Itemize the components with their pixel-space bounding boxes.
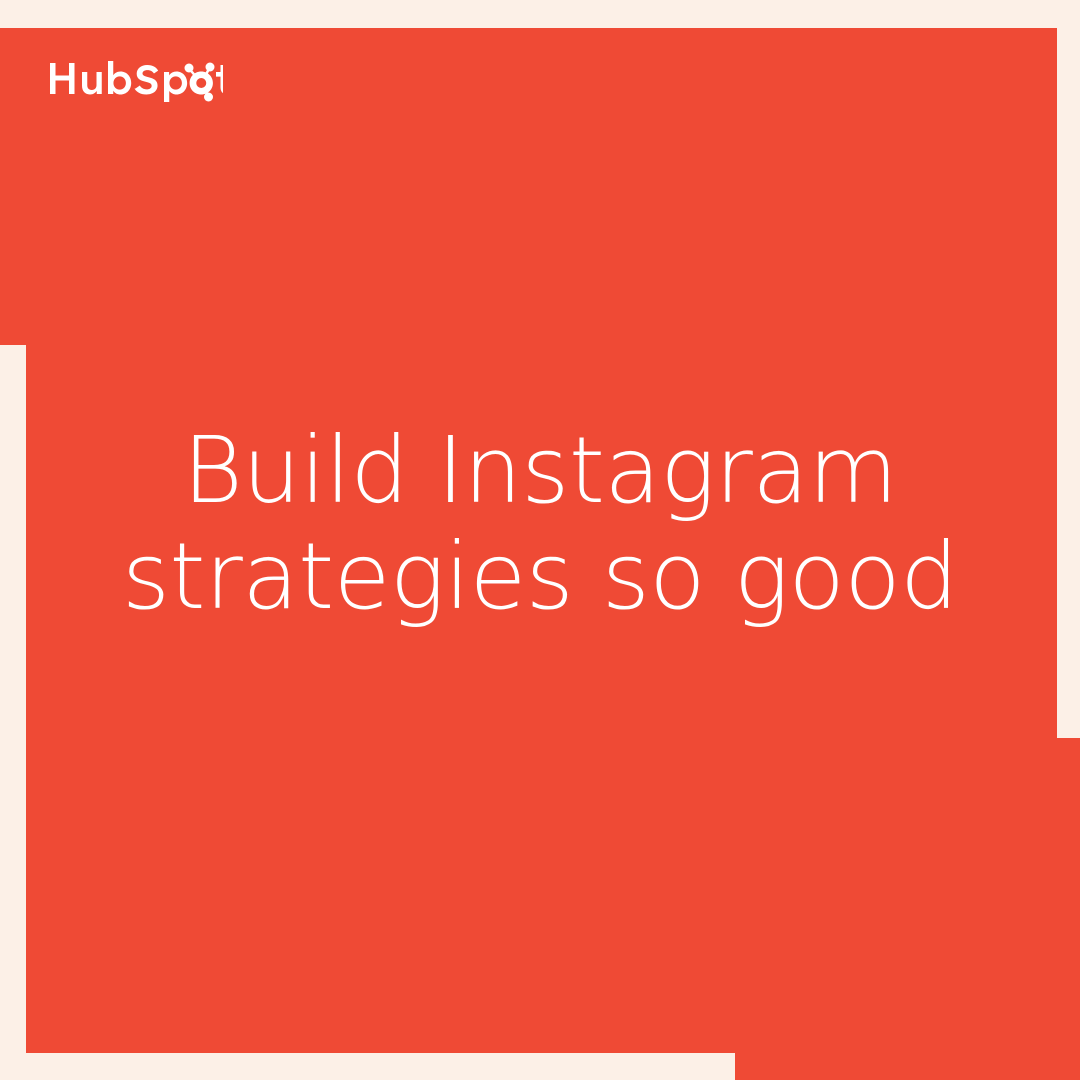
headline: Build Instagram strategies so good <box>0 418 1080 630</box>
hubspot-logo-svg <box>48 50 223 102</box>
headline-line-2: strategies so good <box>0 524 1080 630</box>
headline-line-1: Build Instagram <box>0 418 1080 524</box>
social-post-canvas: Build Instagram strategies so good <box>0 0 1080 1080</box>
hubspot-logo[interactable] <box>48 50 223 102</box>
accent-block-bottom-tab <box>735 1053 1080 1080</box>
accent-block-right-step <box>1057 738 1080 1053</box>
